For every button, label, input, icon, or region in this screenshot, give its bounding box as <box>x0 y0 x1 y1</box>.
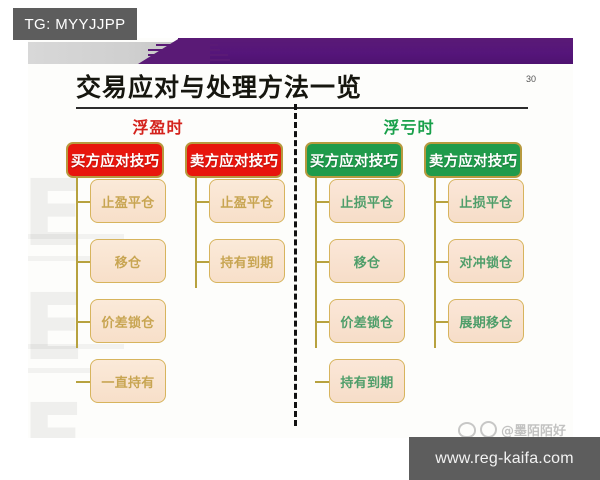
banner-accent-line <box>156 44 218 46</box>
weibo-handle-text: @墨陌陌好 <box>501 420 566 438</box>
title-row: 交易应对与处理方法一览 30 <box>28 64 573 112</box>
slide-screenshot: TG: MYYJJPP E E E 交易应对与处理方法一览 30 浮盈时 浮 <box>0 0 600 480</box>
item-box[interactable]: 移仓 <box>90 239 166 283</box>
item-box[interactable]: 止盈平仓 <box>90 179 166 223</box>
telegram-watermark-bar: TG: MYYJJPP <box>13 8 137 40</box>
item-box[interactable]: 移仓 <box>329 239 405 283</box>
title-underline <box>76 107 528 109</box>
banner-purple-band <box>178 38 573 64</box>
site-watermark-bar: www.reg-kaifa.com <box>409 437 600 480</box>
page-title: 交易应对与处理方法一览 <box>76 68 362 104</box>
presentation-slide: E E E 交易应对与处理方法一览 30 浮盈时 浮亏时 买 <box>28 38 573 438</box>
item-box[interactable]: 价差锁仓 <box>90 299 166 343</box>
section-label-floating-loss: 浮亏时 <box>291 114 527 138</box>
banner-accent-line <box>148 54 228 56</box>
banner-accent-line <box>148 49 220 51</box>
column-header-seller-profit[interactable]: 卖方应对技巧 <box>185 142 283 178</box>
item-box[interactable]: 对冲锁仓 <box>448 239 524 283</box>
item-box[interactable]: 止损平仓 <box>448 179 524 223</box>
item-box[interactable]: 持有到期 <box>209 239 285 283</box>
background-watermark-letter: E <box>28 400 85 438</box>
column-header-buyer-profit[interactable]: 买方应对技巧 <box>66 142 164 178</box>
item-box[interactable]: 展期移仓 <box>448 299 524 343</box>
banner-accent-line <box>156 59 230 61</box>
section-divider <box>294 104 297 426</box>
slide-banner <box>28 38 573 64</box>
connector-spine <box>195 178 197 288</box>
item-box[interactable]: 一直持有 <box>90 359 166 403</box>
slide-page-number: 30 <box>526 74 536 84</box>
telegram-watermark-text: TG: MYYJJPP <box>24 16 125 33</box>
item-box[interactable]: 止盈平仓 <box>209 179 285 223</box>
item-box[interactable]: 价差锁仓 <box>329 299 405 343</box>
at-sign-icon <box>480 421 497 438</box>
weibo-watermark: @墨陌陌好 <box>458 420 566 438</box>
weibo-logo-icon <box>458 422 476 438</box>
site-url-text: www.reg-kaifa.com <box>435 450 574 468</box>
column-header-seller-loss[interactable]: 卖方应对技巧 <box>424 142 522 178</box>
item-box[interactable]: 止损平仓 <box>329 179 405 223</box>
column-header-buyer-loss[interactable]: 买方应对技巧 <box>305 142 403 178</box>
item-box[interactable]: 持有到期 <box>329 359 405 403</box>
section-label-floating-profit: 浮盈时 <box>40 114 276 138</box>
